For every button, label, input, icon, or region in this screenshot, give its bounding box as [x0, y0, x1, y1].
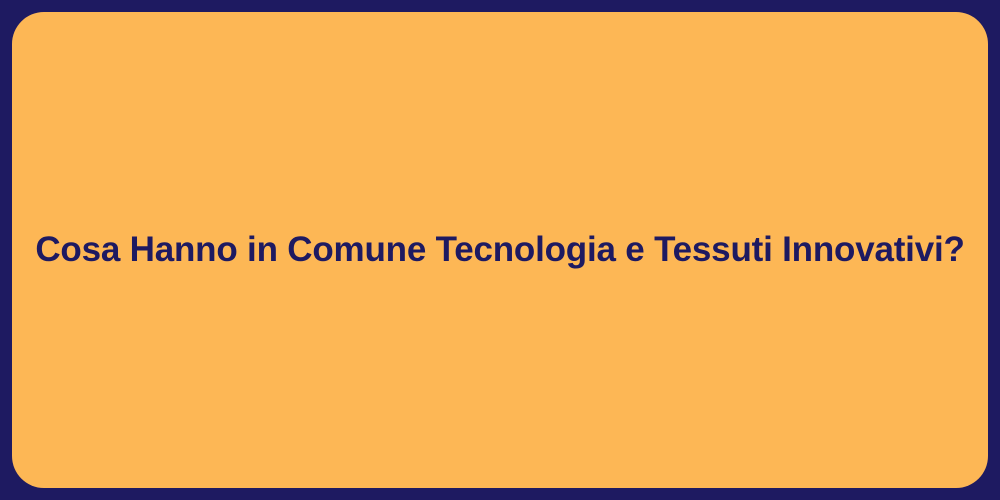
page-title: Cosa Hanno in Comune Tecnologia e Tessut… [35, 228, 964, 272]
banner-frame: Cosa Hanno in Comune Tecnologia e Tessut… [0, 0, 1000, 500]
banner-card: Cosa Hanno in Comune Tecnologia e Tessut… [12, 12, 988, 488]
